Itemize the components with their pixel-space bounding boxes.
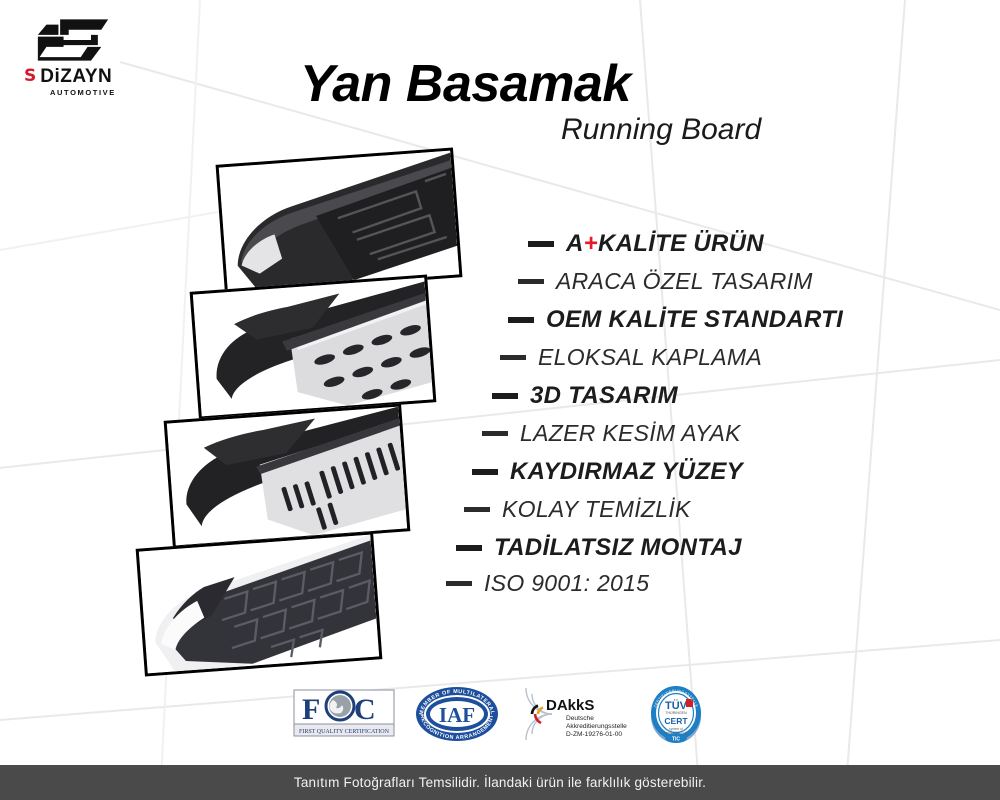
dakks-badge: DAkkS Deutsche Akkreditierungsstelle D-Z… [518, 686, 628, 742]
feature-label: KAYDIRMAZ YÜZEY [510, 458, 743, 486]
feature-dash-icon [464, 507, 490, 512]
feature-item-8: KOLAY TEMİZLİK [464, 496, 691, 523]
feature-item-2: ARACA ÖZEL TASARIM [518, 268, 813, 295]
page-title: Yan Basamak [300, 54, 631, 114]
running-board-rubber-tread-image [139, 535, 379, 674]
feature-dash-icon [518, 279, 544, 284]
feature-dash-icon [500, 355, 526, 360]
svg-text:FIRST QUALITY CERTIFICATION: FIRST QUALITY CERTIFICATION [299, 729, 390, 735]
certification-badges: F C FIRST QUALITY CERTIFICATION IAF MEMB… [292, 683, 712, 745]
feature-dash-icon [528, 241, 554, 247]
feature-label: 3D TASARIM [530, 382, 678, 410]
svg-text:F: F [302, 693, 320, 726]
svg-text:TIC: TIC [672, 737, 680, 743]
feature-label: LAZER KESİM AYAK [520, 420, 741, 447]
brand-accent-letter: S [24, 68, 35, 85]
feature-item-9: TADİLATSIZ MONTAJ [456, 534, 742, 562]
svg-text:DAkkS: DAkkS [546, 697, 594, 714]
feature-label: ARACA ÖZEL TASARIM [556, 268, 813, 295]
feature-dash-icon [482, 431, 508, 436]
feature-dash-icon [456, 545, 482, 551]
running-board-maze-tread-image [219, 151, 459, 292]
feature-label: ELOKSAL KAPLAMA [538, 344, 762, 371]
feature-label: KOLAY TEMİZLİK [502, 496, 691, 523]
s-monogram-icon [34, 16, 112, 64]
feature-text-before: A [566, 230, 584, 257]
feature-dash-icon [508, 317, 534, 323]
feature-dash-icon [492, 393, 518, 399]
feature-text-highlight: + [584, 230, 598, 257]
page-subtitle: Running Board [561, 113, 761, 147]
feature-item-1: A+KALİTE ÜRÜN [528, 230, 764, 258]
running-board-slot-stripes-image [167, 407, 407, 546]
svg-text:Deutsche: Deutsche [566, 715, 594, 722]
brand-name: DiZAYN [40, 67, 112, 86]
product-photo-1 [216, 147, 463, 294]
brand-tagline: AUTOMOTIVE [50, 88, 154, 97]
svg-text:Akkreditierungsstelle: Akkreditierungsstelle [566, 723, 627, 730]
product-photo-2 [190, 274, 437, 419]
tuv-cert-badge: TÜV THÜRINGEN CERT system of certificati… [646, 683, 706, 745]
product-photo-3 [164, 403, 411, 548]
brand-logo: S DiZAYN AUTOMOTIVE [24, 16, 154, 97]
feature-item-6: LAZER KESİM AYAK [482, 420, 741, 447]
iaf-badge: IAF MEMBER OF MULTILATERAL RECOGNITION A… [414, 685, 500, 743]
feature-item-10: ISO 9001: 2015 [446, 570, 649, 597]
svg-text:C: C [354, 693, 376, 726]
feature-item-7: KAYDIRMAZ YÜZEY [472, 458, 743, 486]
feature-label: OEM KALİTE STANDARTI [546, 306, 843, 334]
svg-text:THÜRINGEN: THÜRINGEN [665, 711, 687, 715]
running-board-oval-holes-image [193, 278, 433, 417]
footer-bar: Tanıtım Fotoğrafları Temsilidir. İlandak… [0, 765, 1000, 800]
feature-item-3: OEM KALİTE STANDARTI [508, 306, 843, 334]
feature-label: TADİLATSIZ MONTAJ [494, 534, 742, 562]
disclaimer-text: Tanıtım Fotoğrafları Temsilidir. İlandak… [294, 775, 706, 790]
feature-label: ISO 9001: 2015 [484, 570, 649, 597]
product-photo-4 [136, 531, 383, 676]
feature-dash-icon [446, 581, 472, 586]
feature-item-5: 3D TASARIM [492, 382, 678, 410]
svg-text:CERT: CERT [664, 716, 688, 726]
feature-item-4: ELOKSAL KAPLAMA [500, 344, 762, 371]
svg-text:IAF: IAF [439, 703, 475, 727]
feature-dash-icon [472, 469, 498, 475]
feature-text-after: KALİTE ÜRÜN [598, 230, 764, 257]
feature-label: A+KALİTE ÜRÜN [566, 230, 764, 258]
feature-list: A+KALİTE ÜRÜN ARACA ÖZEL TASARIM OEM KAL… [430, 218, 950, 598]
svg-text:D-ZM-19276-01-00: D-ZM-19276-01-00 [566, 731, 622, 738]
fqc-badge: F C FIRST QUALITY CERTIFICATION [292, 686, 396, 742]
